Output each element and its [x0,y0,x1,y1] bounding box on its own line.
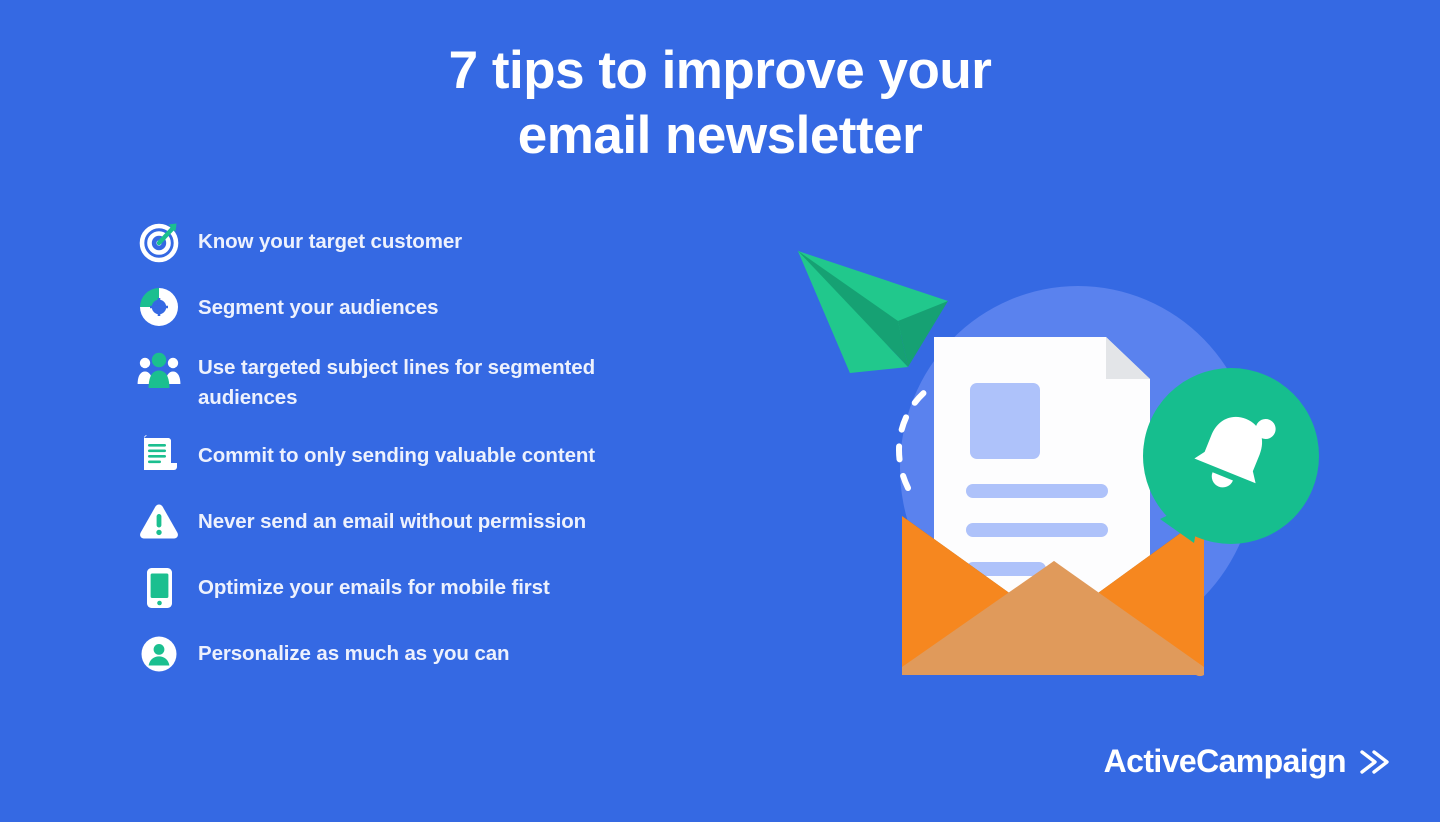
page-title-line-2: email newsletter [0,103,1440,170]
letter-text-line-1 [966,484,1108,498]
list-item-label: Personalize as much as you can [198,630,509,669]
people-group-icon [136,350,184,398]
person-avatar-icon [136,630,184,678]
list-item: Know your target customer [136,218,696,266]
page-title: 7 tips to improve your email newsletter [0,38,1440,170]
list-item: Commit to only sending valuable content [136,432,696,480]
list-item-label: Never send an email without permission [198,498,586,537]
list-item-label: Use targeted subject lines for segmented… [198,350,696,414]
list-item-label: Optimize your emails for mobile first [198,564,550,603]
list-item: Never send an email without permission [136,498,696,546]
paper-plane-icon [798,251,948,373]
target-icon [136,218,184,266]
activecampaign-logo: ActiveCampaign [1104,743,1392,780]
notification-bell-bubble [1143,368,1319,544]
list-item-label: Segment your audiences [198,284,438,323]
letter-image-placeholder [970,383,1040,459]
email-newsletter-illustration [790,243,1330,693]
list-item: Segment your audiences [136,284,696,332]
list-item: Optimize your emails for mobile first [136,564,696,612]
letter-text-line-2 [966,523,1108,537]
infographic-canvas: 7 tips to improve your email newsletter … [0,0,1440,822]
list-item: Use targeted subject lines for segmented… [136,350,696,414]
mobile-phone-icon [136,564,184,612]
list-item-label: Know your target customer [198,218,462,257]
warning-icon [136,498,184,546]
double-chevron-right-icon [1358,747,1392,777]
page-title-line-1: 7 tips to improve your [0,38,1440,105]
list-item: Personalize as much as you can [136,630,696,678]
pie-chart-icon [136,284,184,332]
logo-text: ActiveCampaign [1104,743,1346,780]
list-item-label: Commit to only sending valuable content [198,432,595,471]
document-icon [136,432,184,480]
tips-list: Know your target customer Segment your a… [136,218,696,696]
